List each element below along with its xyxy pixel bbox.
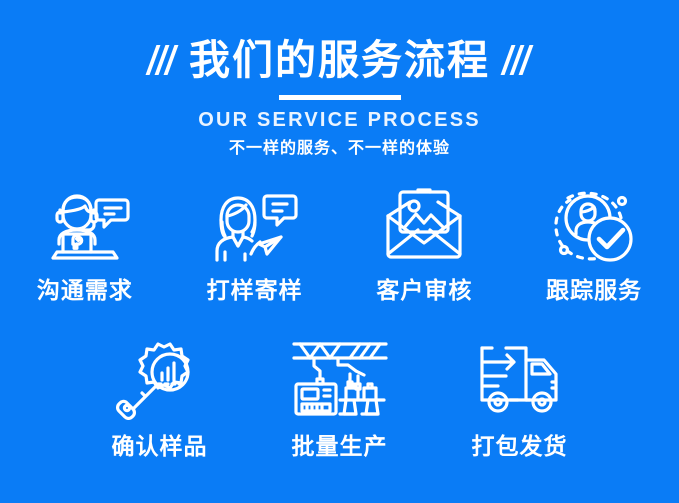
step-item-mass-production[interactable]: 批量生产 <box>250 338 430 460</box>
slashes-decoration-right <box>506 45 528 75</box>
steps-row-2: 确认样品 <box>0 338 679 460</box>
step-label: 客户审核 <box>376 276 472 304</box>
step-item-sample-sending[interactable]: 打样寄样 <box>170 186 340 304</box>
step-item-confirm-sample[interactable]: 确认样品 <box>70 338 250 460</box>
person-check-orbit-icon <box>544 186 644 264</box>
step-label: 打样寄样 <box>207 276 303 304</box>
step-item-tracking-service[interactable]: 跟踪服务 <box>509 186 679 304</box>
step-item-customer-review[interactable]: 客户审核 <box>340 186 510 304</box>
title-divider <box>279 95 401 100</box>
subtitle-english: OUR SERVICE PROCESS <box>0 108 679 132</box>
envelope-photo-icon <box>374 186 474 264</box>
delivery-truck-icon <box>468 338 572 420</box>
step-item-pack-and-ship[interactable]: 打包发货 <box>430 338 610 460</box>
step-label: 批量生产 <box>292 432 388 460</box>
steps-row-1: 沟通需求 <box>0 186 679 304</box>
step-label: 跟踪服务 <box>546 276 642 304</box>
subtitle-chinese: 不一样的服务、不一样的体验 <box>0 139 679 159</box>
woman-chat-paper-plane-icon <box>205 186 305 264</box>
factory-production-line-icon <box>288 338 392 420</box>
step-label: 沟通需求 <box>37 276 133 304</box>
banner-header: 我们的服务流程 OUR SERVICE PROCESS 不一样的服务、不一样的体… <box>0 34 679 159</box>
slashes-decoration-left <box>151 45 173 75</box>
step-label: 确认样品 <box>112 432 208 460</box>
service-process-banner: 我们的服务流程 OUR SERVICE PROCESS 不一样的服务、不一样的体… <box>0 0 679 503</box>
step-label: 打包发货 <box>472 432 568 460</box>
title-row: 我们的服务流程 <box>0 34 679 86</box>
step-item-communicate[interactable]: 沟通需求 <box>0 186 170 304</box>
headset-agent-laptop-chat-icon <box>37 186 133 264</box>
page-title: 我们的服务流程 <box>189 37 490 83</box>
magnifier-gear-chart-icon <box>112 338 208 420</box>
